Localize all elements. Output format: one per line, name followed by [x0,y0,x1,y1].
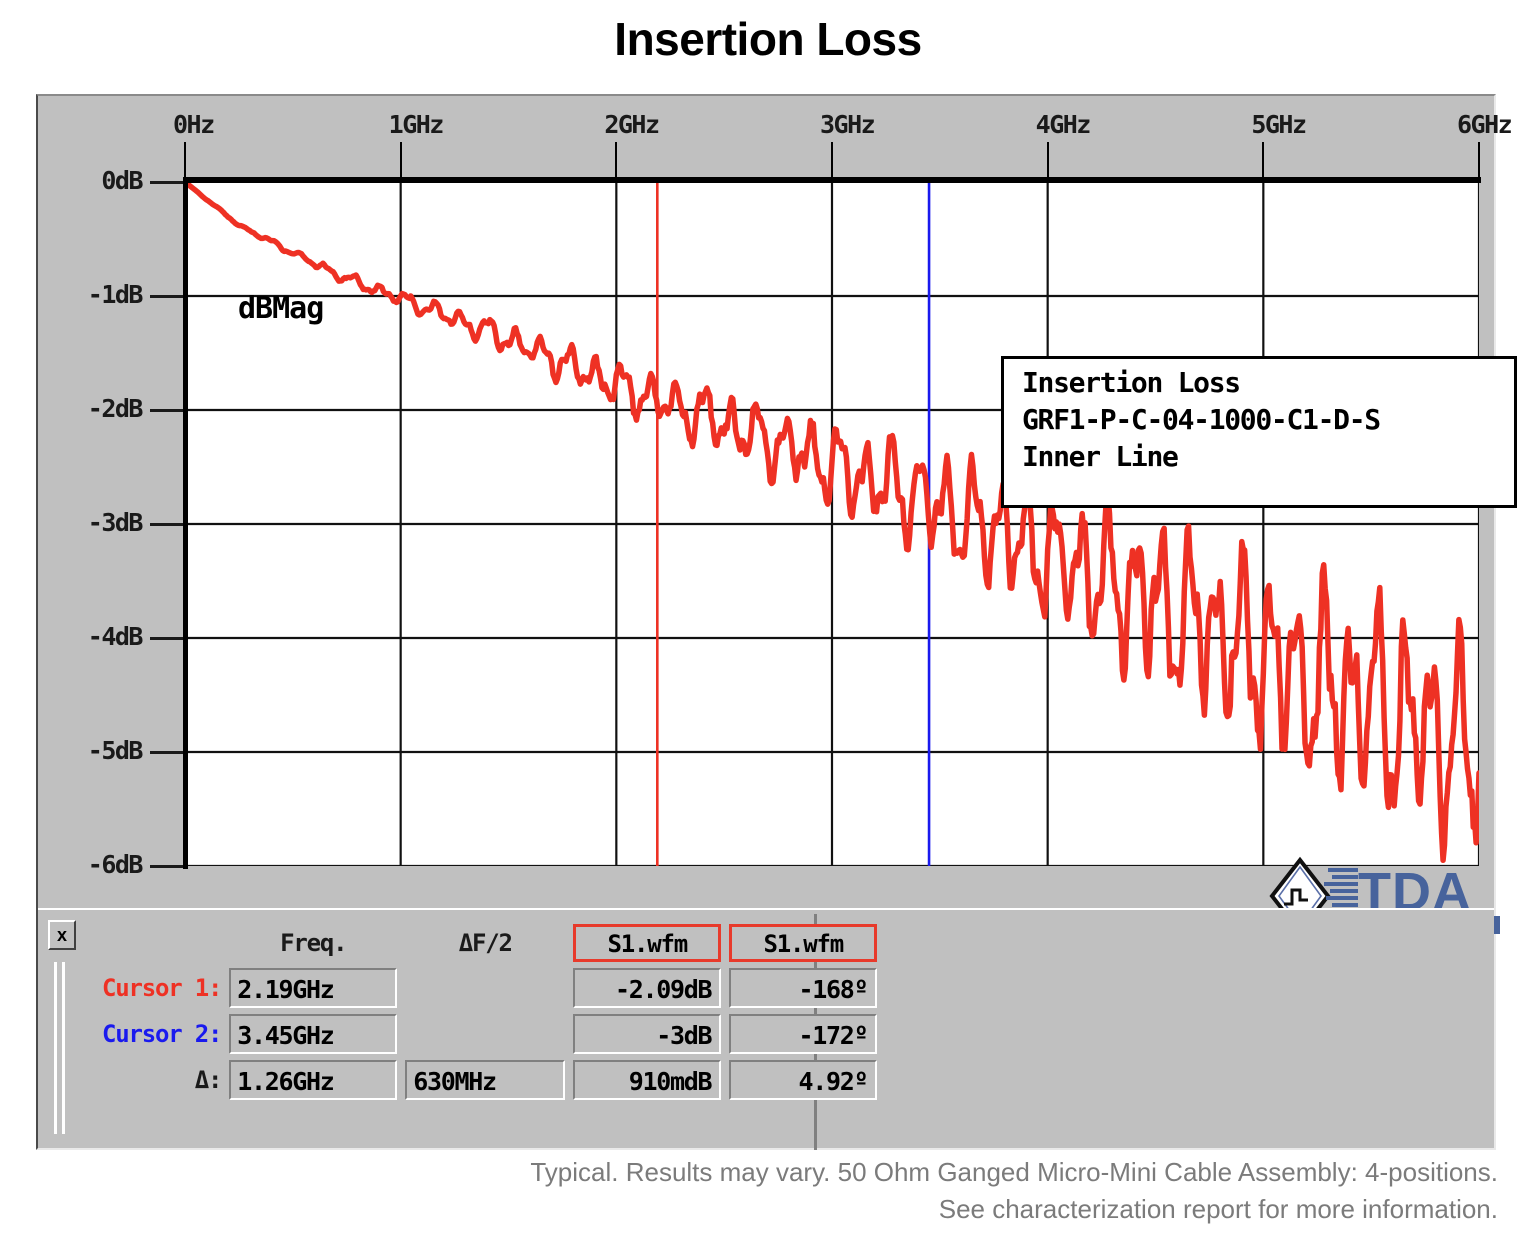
row-label: Cursor 1: [102,968,221,1008]
row-label: Cursor 2: [102,1014,221,1054]
x-tick-label: 6GHz [1457,110,1511,139]
x-tick [1478,142,1480,178]
x-tick [1262,142,1264,178]
cursor-readout-panel: x Freq.ΔF/2S1.wfmS1.wfmCursor 1:2.19GHz-… [38,908,1494,1148]
waveform-column-button[interactable]: S1.wfm [729,924,877,962]
footer-caption: Typical. Results may vary. 50 Ohm Ganged… [36,1154,1498,1228]
waveform-svg [185,182,1479,866]
y-tick-label: -4dB [88,622,142,651]
graph-area: 0Hz1GHz2GHz3GHz4GHz5GHz6GHz 0dB-1dB-2dB-… [38,96,1494,908]
y-tick-label: 0dB [101,166,142,195]
table-row: Cursor 1:2.19GHz-2.09dB-168º [102,968,877,1008]
x-tick-label: 2GHz [604,110,658,139]
x-tick [400,142,402,178]
y-tick [150,865,183,868]
x-tick-label: 4GHz [1036,110,1090,139]
legend-line-1: Insertion Loss [1022,365,1514,402]
dbmag-label: dBMag [238,291,323,326]
mag-field[interactable]: -3dB [573,1014,721,1054]
y-tick [150,295,183,298]
column-header: ΔF/2 [405,924,565,962]
y-tick-label: -2dB [88,394,142,423]
freq-field[interactable]: 3.45GHz [229,1014,397,1054]
x-tick [184,142,186,178]
mag-field[interactable]: 910mdB [573,1060,721,1100]
screenshot-root: Insertion Loss 0Hz1GHz2GHz3GHz4GHz5GHz6G… [0,0,1536,1242]
caption-line-2: See characterization report for more inf… [36,1191,1498,1228]
empty-cell [405,1014,565,1054]
phase-field[interactable]: 4.92º [729,1060,877,1100]
x-tick [1047,142,1049,178]
freq-field[interactable]: 2.19GHz [229,968,397,1008]
y-tick [150,181,183,184]
y-tick-label: -1dB [88,280,142,309]
legend-line-3: Inner Line [1022,439,1514,476]
close-icon[interactable]: x [48,920,76,950]
panel-grip-handle[interactable] [52,962,74,1134]
y-tick-label: -6dB [88,850,142,879]
x-tick-label: 1GHz [389,110,443,139]
page-title: Insertion Loss [0,12,1536,66]
waveform-column-button[interactable]: S1.wfm [573,924,721,962]
caption-line-1: Typical. Results may vary. 50 Ohm Ganged… [36,1154,1498,1191]
x-tick [615,142,617,178]
y-tick [150,637,183,640]
freq-field[interactable]: 1.26GHz [229,1060,397,1100]
axis-left-rule [183,177,188,869]
y-tick [150,751,183,754]
axis-top-rule [183,177,1481,183]
instrument-window: 0Hz1GHz2GHz3GHz4GHz5GHz6GHz 0dB-1dB-2dB-… [36,94,1496,1150]
column-header: Freq. [229,924,397,962]
legend-line-2: GRF1-P-C-04-1000-C1-D-S [1022,402,1514,439]
y-tick-label: -5dB [88,736,142,765]
phase-field[interactable]: -172º [729,1014,877,1054]
x-tick-label: 0Hz [173,110,214,139]
x-tick-label: 5GHz [1251,110,1305,139]
empty-cell [405,968,565,1008]
table-row: Cursor 2:3.45GHz-3dB-172º [102,1014,877,1054]
mag-field[interactable]: -2.09dB [573,968,721,1008]
y-tick-label: -3dB [88,508,142,537]
x-tick [831,142,833,178]
y-tick [150,409,183,412]
y-tick [150,523,183,526]
table-row: Δ:1.26GHz630MHz910mdB4.92º [102,1060,877,1100]
df2-field[interactable]: 630MHz [405,1060,565,1100]
row-label: Δ: [102,1060,221,1100]
cursor-table: Freq.ΔF/2S1.wfmS1.wfmCursor 1:2.19GHz-2.… [94,918,885,1106]
table-header-row: Freq.ΔF/2S1.wfmS1.wfm [102,924,877,962]
plot-canvas[interactable] [185,182,1479,866]
legend-box: Insertion Loss GRF1-P-C-04-1000-C1-D-S I… [1001,356,1517,508]
phase-field[interactable]: -168º [729,968,877,1008]
x-tick-label: 3GHz [820,110,874,139]
